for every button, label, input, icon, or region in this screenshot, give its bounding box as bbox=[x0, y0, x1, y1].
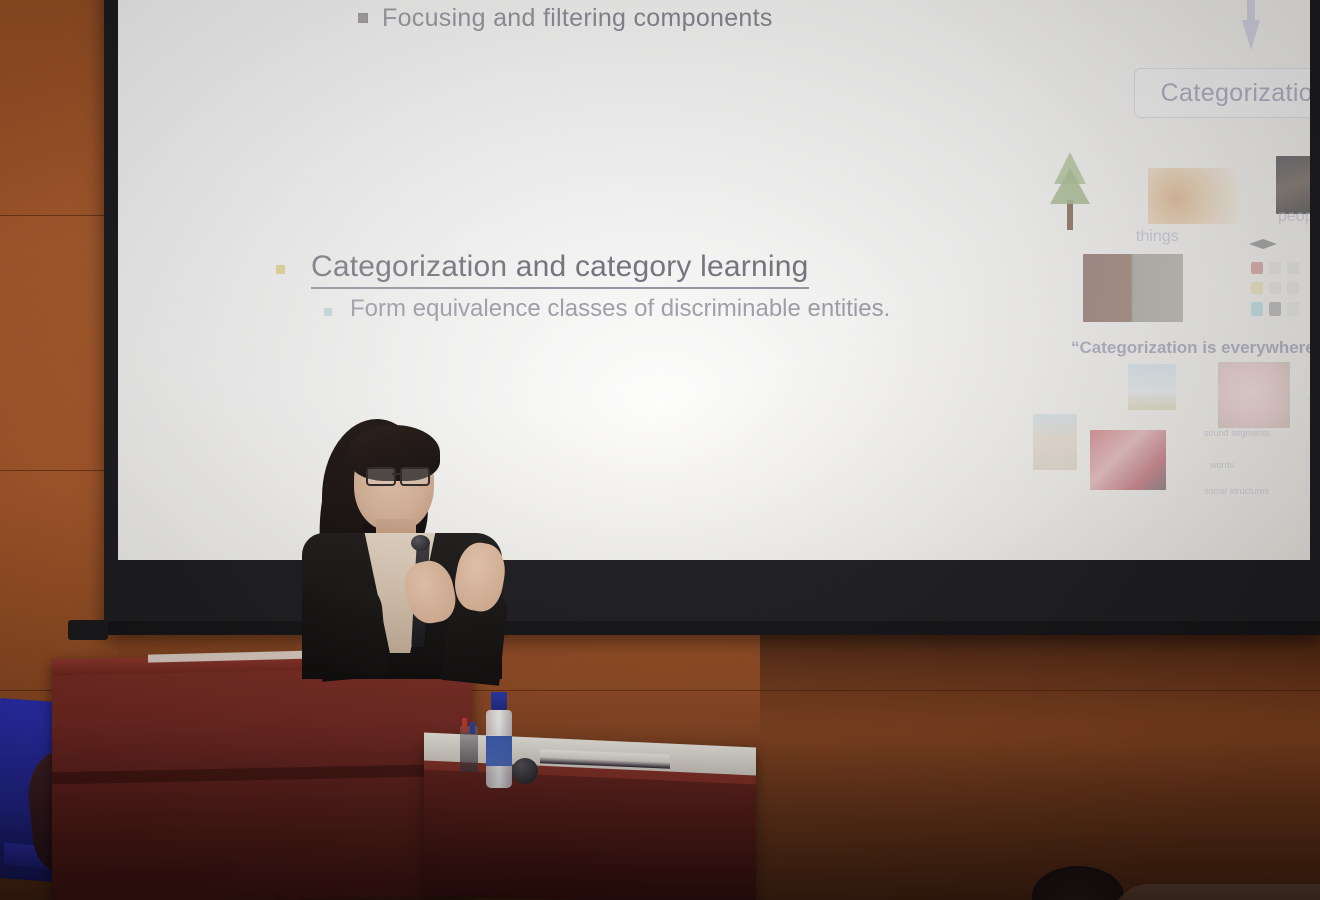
lens-right bbox=[400, 467, 430, 486]
slide-bullet-focusing: Focusing and filtering components bbox=[358, 4, 773, 33]
slide-sub-bullet-label: Form equivalence classes of discriminabl… bbox=[350, 295, 890, 323]
mindmap-label-sound-segments: sound segments bbox=[1204, 428, 1270, 438]
dogs-photo bbox=[1148, 168, 1240, 224]
collage-label-things: things bbox=[1136, 228, 1179, 246]
collage-label-people: people bbox=[1278, 208, 1310, 226]
slide-sub-bullet: Form equivalence classes of discriminabl… bbox=[324, 295, 890, 323]
glasses-icon bbox=[366, 467, 432, 483]
slide-main-bullet: Categorization and category learning bbox=[276, 250, 809, 289]
floor-shadow bbox=[0, 720, 1320, 900]
left-arm bbox=[314, 578, 388, 681]
categorization-box: Categorization bbox=[1134, 68, 1310, 118]
lens-left bbox=[366, 467, 396, 486]
jumping-people-photo bbox=[1128, 364, 1176, 410]
down-arrow-icon bbox=[1242, 0, 1260, 50]
quote-text: “Categorization is everywhere.” bbox=[1071, 338, 1310, 357]
icon-grid-photo bbox=[1247, 236, 1301, 320]
mother-and-baby-photo bbox=[1218, 362, 1290, 428]
slide-quote: “Categorization is everywhere.”(MacWhinn… bbox=[1071, 338, 1310, 358]
portrait-face-photo bbox=[1276, 156, 1310, 214]
bottle-cap bbox=[491, 692, 507, 710]
lecture-photo-scene: Bottom-up manner Top-down manner Focusin… bbox=[0, 0, 1320, 900]
screen-roller-bracket bbox=[68, 620, 108, 640]
slide-bullet-label: Focusing and filtering components bbox=[382, 4, 773, 33]
projection-screen-frame: Bottom-up manner Top-down manner Focusin… bbox=[104, 0, 1320, 635]
mindmap-label-social-structures: social structures bbox=[1204, 486, 1269, 496]
slide-main-bullet-label: Categorization and category learning bbox=[311, 250, 809, 289]
left-wall-panel bbox=[0, 0, 118, 700]
audience-member-shoulder bbox=[1110, 884, 1320, 900]
microphone-head bbox=[411, 535, 430, 551]
sports-athletes-photo bbox=[1090, 430, 1166, 490]
runner-photo bbox=[1033, 414, 1077, 470]
categorization-box-label: Categorization bbox=[1161, 79, 1310, 108]
speaker-presenter bbox=[296, 415, 526, 675]
mindmap-connector bbox=[1306, 440, 1307, 492]
diamond-bullet-icon bbox=[276, 265, 285, 274]
tree-photo bbox=[1048, 150, 1092, 230]
square-bullet-icon bbox=[324, 308, 332, 316]
mushrooms-photo bbox=[1083, 254, 1183, 322]
square-bullet-icon bbox=[358, 13, 368, 23]
mindmap-label-words: words bbox=[1210, 460, 1234, 470]
mindmap-connector bbox=[1306, 398, 1310, 399]
